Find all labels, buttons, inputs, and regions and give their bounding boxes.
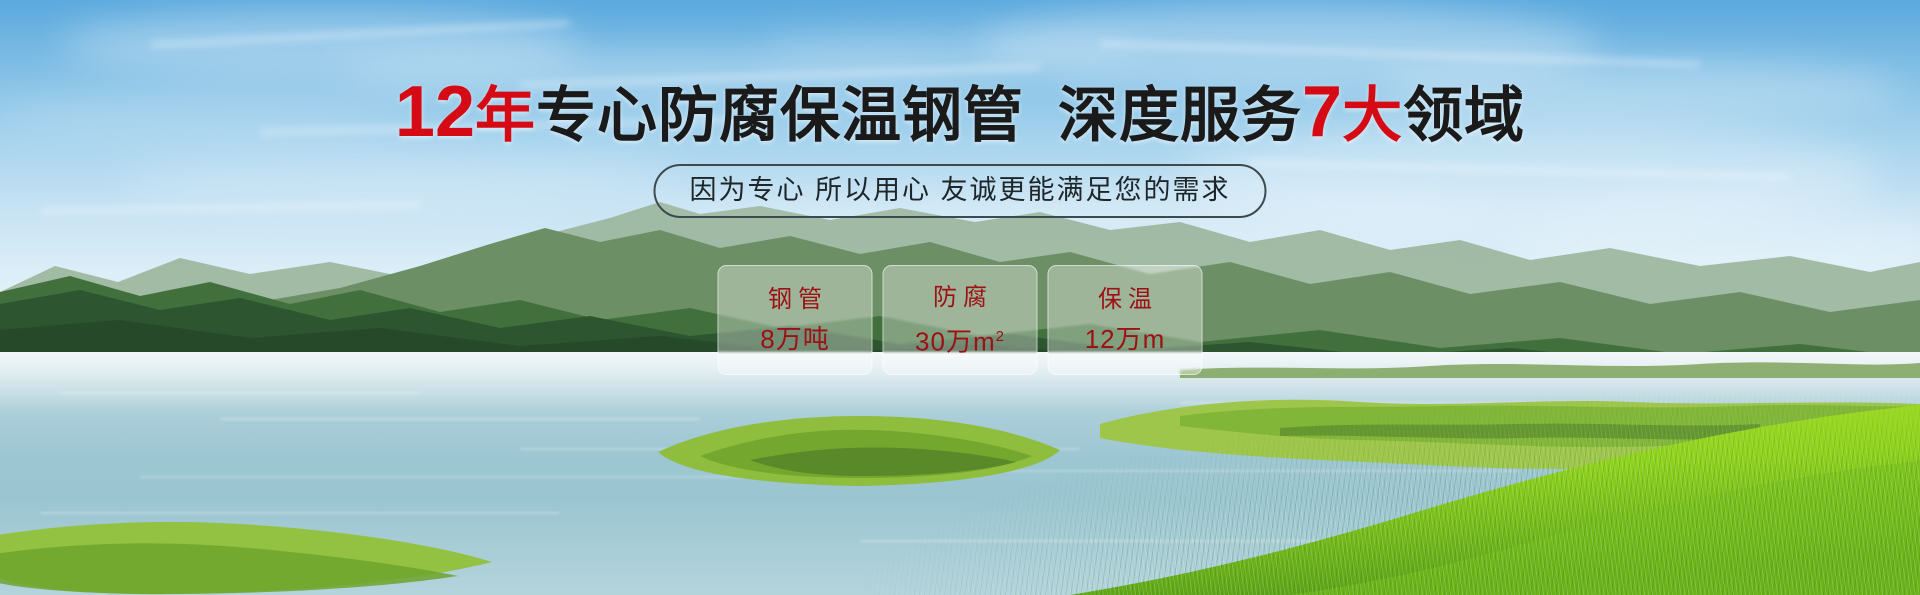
headline-years-unit: 年 [475, 82, 536, 149]
headline-fields-number: 7 [1302, 72, 1342, 152]
stat-card-value: 8万吨 [760, 325, 829, 353]
subtitle-pill: 因为专心 所以用心 友诚更能满足您的需求 [653, 164, 1266, 218]
stat-card-title: 保温 [1092, 287, 1158, 313]
stat-card-value-superscript: 2 [996, 328, 1005, 345]
stat-card-value-main: 30万m [915, 326, 996, 356]
stat-card-value-main: 12万m [1085, 324, 1166, 354]
stat-card-value: 30万m2 [915, 323, 1005, 356]
promo-banner: 12年专心防腐保温钢管深度服务7大领域 因为专心 所以用心 友诚更能满足您的需求… [0, 0, 1920, 595]
banner-content: 12年专心防腐保温钢管深度服务7大领域 因为专心 所以用心 友诚更能满足您的需求… [0, 0, 1920, 595]
stat-card-title: 钢管 [762, 287, 828, 313]
headline-service-phrase: 深度服务 [1058, 82, 1302, 149]
headline: 12年专心防腐保温钢管深度服务7大领域 [0, 82, 1920, 146]
stat-card-anticorrosion[interactable]: 防腐 30万m2 [883, 265, 1038, 375]
stat-cards: 钢管 8万吨 防腐 30万m2 保温 12万m [718, 265, 1203, 375]
headline-fields-word: 领域 [1403, 82, 1525, 149]
headline-years-number: 12 [395, 72, 475, 152]
headline-fields-unit: 大 [1342, 82, 1403, 149]
stat-card-value-main: 8万吨 [760, 324, 829, 354]
stat-card-steel-pipe[interactable]: 钢管 8万吨 [718, 265, 873, 375]
stat-card-insulation[interactable]: 保温 12万m [1048, 265, 1203, 375]
stat-card-value: 12万m [1085, 325, 1166, 353]
stat-card-title: 防腐 [927, 285, 993, 311]
headline-main-phrase: 专心防腐保温钢管 [536, 82, 1024, 149]
